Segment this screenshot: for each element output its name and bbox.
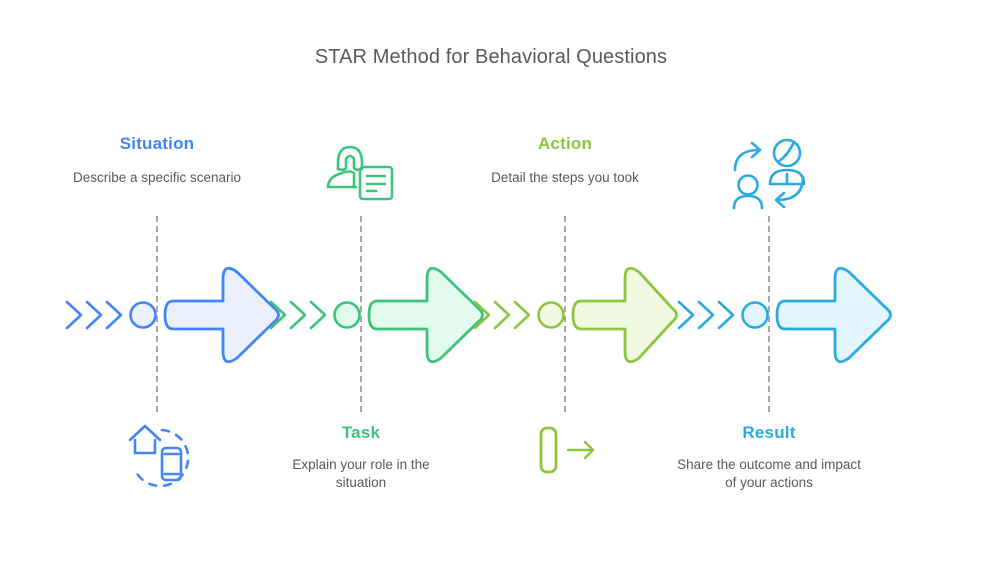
- node-circle-icon: [743, 303, 768, 328]
- icon-person-document: [259, 136, 463, 210]
- person-head-left-icon: [739, 176, 758, 195]
- person-shoulders-icon: [328, 172, 354, 188]
- person-head-icon: [338, 147, 362, 170]
- house-icon: [130, 426, 160, 440]
- arrow-graphic-situation: [55, 250, 285, 380]
- arrow-graphic-task: [259, 250, 489, 380]
- person-head-right-detail-icon: [778, 144, 793, 162]
- person-body-left-icon: [734, 196, 762, 208]
- big-arrow-icon: [573, 268, 677, 361]
- house-body-icon: [135, 440, 155, 453]
- vertical-bar-icon: [541, 428, 556, 472]
- arrow-graphic-action: [463, 250, 693, 380]
- arrow-graphic-result: [667, 250, 897, 380]
- icon-two-people-exchange: [667, 136, 871, 210]
- step-label-task: Task: [259, 423, 463, 443]
- star-step-result: Result Share the outcome and impact of y…: [667, 0, 871, 579]
- chevron-trail-icon: [67, 302, 121, 328]
- star-step-action: Action Detail the steps you took: [463, 0, 667, 579]
- icon-house-phone-cycle: [55, 412, 259, 488]
- chevron-trail-icon: [271, 302, 325, 328]
- step-description-result: Share the outcome and impact of your act…: [674, 456, 864, 492]
- node-circle-icon: [335, 303, 360, 328]
- icon-bar-arrow: [463, 412, 667, 488]
- step-description-situation: Describe a specific scenario: [62, 169, 252, 187]
- step-label-situation: Situation: [55, 134, 259, 154]
- step-label-result: Result: [667, 423, 871, 443]
- chevron-trail-icon: [475, 302, 529, 328]
- node-circle-icon: [539, 303, 564, 328]
- big-arrow-icon: [777, 268, 891, 361]
- chevron-trail-icon: [679, 302, 733, 328]
- star-step-task: Task Explain your role in the situation: [259, 0, 463, 579]
- step-description-action: Detail the steps you took: [470, 169, 660, 187]
- step-description-task: Explain your role in the situation: [266, 456, 456, 492]
- node-circle-icon: [131, 303, 156, 328]
- step-label-action: Action: [463, 134, 667, 154]
- star-step-situation: Situation Describe a specific scenario: [55, 0, 259, 579]
